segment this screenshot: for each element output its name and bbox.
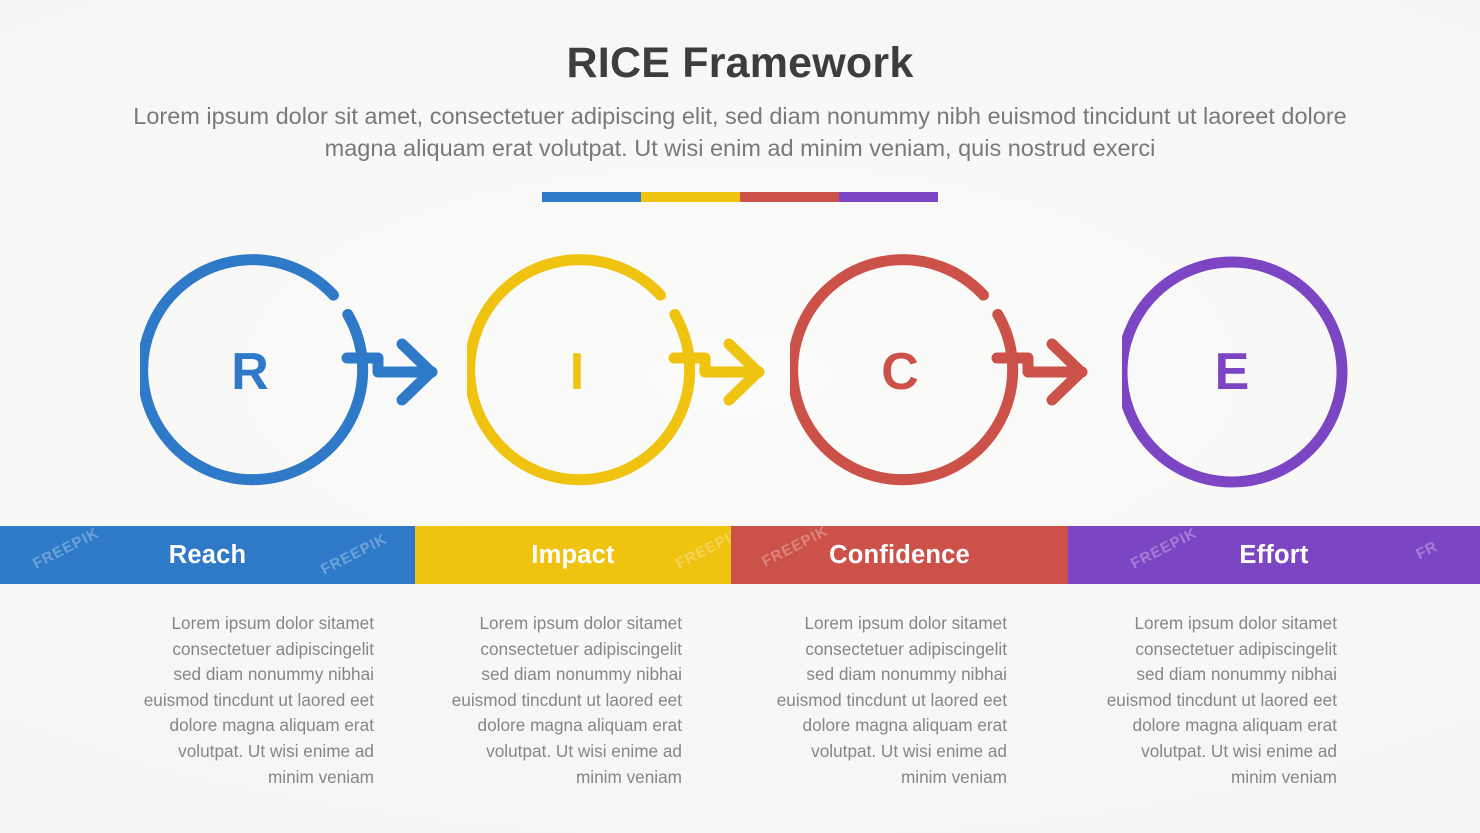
divider-segment-effort bbox=[839, 192, 938, 202]
step-letter-impact: I bbox=[467, 252, 687, 492]
steps-diagram: R I C E bbox=[0, 252, 1480, 492]
step-node-confidence[interactable]: C bbox=[790, 252, 1090, 492]
divider-segment-confidence bbox=[740, 192, 839, 202]
page-title: RICE Framework bbox=[0, 34, 1480, 92]
infographic-slide: RICE Framework Lorem ipsum dolor sit ame… bbox=[0, 0, 1480, 833]
step-node-reach[interactable]: R bbox=[140, 252, 440, 492]
description-effort: Lorem ipsum dolor sitamet consectetuer a… bbox=[1105, 611, 1337, 790]
step-letter-confidence: C bbox=[790, 252, 1010, 492]
label-text-reach: Reach bbox=[0, 541, 415, 570]
label-cell-impact[interactable]: Impact FREEPIK bbox=[415, 526, 731, 584]
label-text-impact: Impact bbox=[415, 541, 731, 570]
step-letter-effort: E bbox=[1122, 252, 1342, 492]
label-cell-reach[interactable]: Reach FREEPIK FREEPIK bbox=[0, 526, 415, 584]
step-node-impact[interactable]: I bbox=[467, 252, 767, 492]
description-reach: Lorem ipsum dolor sitamet consectetuer a… bbox=[142, 611, 374, 790]
label-cell-confidence[interactable]: Confidence FREEPIK bbox=[731, 526, 1068, 584]
divider-segment-impact bbox=[641, 192, 740, 202]
label-bar: Reach FREEPIK FREEPIK Impact FREEPIK Con… bbox=[0, 526, 1480, 584]
step-letter-reach: R bbox=[140, 252, 360, 492]
divider-segment-reach bbox=[542, 192, 641, 202]
label-text-effort: Effort bbox=[1068, 541, 1480, 570]
color-divider bbox=[542, 192, 938, 202]
descriptions: Lorem ipsum dolor sitamet consectetuer a… bbox=[0, 611, 1480, 781]
label-cell-effort[interactable]: Effort FREEPIK FR bbox=[1068, 526, 1480, 584]
label-text-confidence: Confidence bbox=[731, 541, 1068, 570]
header: RICE Framework Lorem ipsum dolor sit ame… bbox=[0, 34, 1480, 164]
description-confidence: Lorem ipsum dolor sitamet consectetuer a… bbox=[775, 611, 1007, 790]
step-node-effort[interactable]: E bbox=[1122, 252, 1422, 492]
page-subtitle: Lorem ipsum dolor sit amet, consectetuer… bbox=[105, 100, 1375, 164]
description-impact: Lorem ipsum dolor sitamet consectetuer a… bbox=[450, 611, 682, 790]
